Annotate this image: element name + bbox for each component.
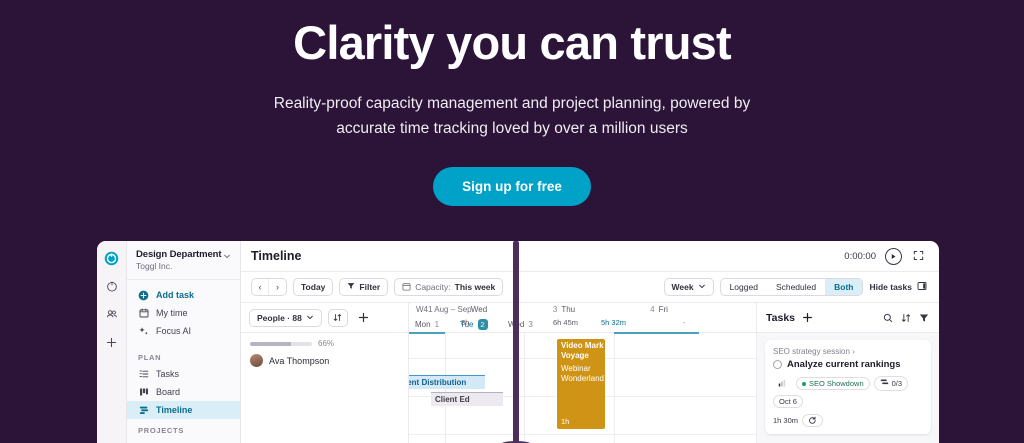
task-title: Analyze current rankings [787, 359, 901, 370]
chevron-down-icon [306, 313, 314, 323]
capacity-button[interactable]: Capacity: This week [394, 278, 503, 296]
filter-icon [347, 282, 355, 292]
main-area: Timeline 0:00:00 ‹ › Today [241, 241, 939, 443]
view-mode-segmented: Logged Scheduled Both [720, 278, 864, 296]
segment-scheduled[interactable]: Scheduled [767, 279, 825, 295]
task-date-chip[interactable]: Oct 6 [773, 395, 803, 408]
event-video-marketing-voyage[interactable]: Video Mark Voyage Webinar Wonderland 1h [557, 339, 605, 429]
day-strip: Mon 1 Tue 2 Wed 3 [409, 317, 756, 332]
add-person-button[interactable] [354, 309, 374, 327]
plus-circle-icon [138, 290, 149, 301]
hide-tasks-label: Hide tasks [869, 282, 912, 292]
person-row[interactable]: 66% Ava Thompson [241, 333, 408, 367]
calendar-cells: Content Distribution Client Ed Data • Re… [409, 333, 756, 443]
timeline-icon [138, 405, 149, 416]
avatar [250, 354, 263, 367]
list-icon [138, 369, 149, 380]
task-complete-checkbox[interactable] [773, 360, 782, 369]
capacity-percent: 66% [318, 339, 334, 348]
subtask-icon [880, 378, 889, 389]
day-header-mon[interactable]: Mon 1 [409, 317, 454, 332]
sidebar-plan-nav: Tasks Board Timeline [127, 365, 240, 419]
event-duration: 1h [561, 417, 569, 426]
sidebar-section-plan: PLAN [127, 346, 240, 365]
toolbar: ‹ › Today Filter Capacity: This week [241, 272, 939, 303]
date-nav: ‹ › [251, 278, 287, 296]
week-label: W41 Aug – Sep [409, 303, 756, 314]
segment-logged[interactable]: Logged [721, 279, 767, 295]
chevron-down-icon [698, 282, 706, 292]
project-name: SEO Showdown [809, 379, 864, 388]
subtask-count: 0/3 [892, 379, 902, 388]
sidebar-item-my-time[interactable]: My time [127, 304, 240, 322]
sparkle-icon [138, 326, 149, 337]
sidebar-quick-nav: Add task My time Focus AI [127, 280, 240, 346]
calendar-icon [138, 308, 149, 319]
sidebar-item-label: Board [156, 387, 180, 397]
calendar-grid[interactable]: W41 Aug – Sep Mon 1 Tue 2 Wed [409, 303, 756, 443]
capacity-bar [250, 342, 312, 346]
top-bar: Timeline 0:00:00 [241, 241, 939, 272]
task-restart-icon[interactable] [802, 414, 823, 427]
sidebar-item-board[interactable]: Board [127, 383, 240, 401]
day-name: Mon [415, 320, 431, 329]
capacity-prefix: Capacity: [415, 282, 450, 292]
event-client-ed[interactable]: Client Ed [431, 392, 503, 406]
day-number: 3 [528, 320, 532, 329]
segment-both[interactable]: Both [825, 279, 862, 295]
page-title: Clarity you can trust [0, 14, 1024, 72]
sidebar-item-label: Tasks [156, 369, 179, 379]
event-content-distribution[interactable]: Content Distribution [409, 375, 485, 389]
prev-button[interactable]: ‹ [252, 279, 269, 295]
add-icon[interactable] [104, 334, 120, 350]
zoom-label: Week [672, 282, 694, 292]
tasks-panel: Tasks [756, 303, 939, 443]
person-name: Ava Thompson [269, 356, 329, 366]
filter-icon[interactable] [918, 312, 930, 324]
day-header-wed[interactable]: Wed 3 [502, 317, 550, 332]
timer-display: 0:00:00 [844, 251, 876, 262]
sidebar-item-label: Focus AI [156, 326, 191, 336]
workspace-name: Design Department [136, 249, 223, 260]
workspace-org: Toggl Inc. [136, 261, 223, 271]
day-name: Tue [460, 320, 474, 329]
hero-subtitle: Reality-proof capacity management and pr… [0, 91, 1024, 141]
tasks-panel-header: Tasks [757, 303, 939, 333]
task-estimate: 1h 30m [773, 415, 798, 426]
hero-section: Clarity you can trust Reality-proof capa… [0, 0, 1024, 206]
panel-resize-handle[interactable] [513, 241, 519, 443]
sidebar-item-add-task[interactable]: Add task [127, 286, 240, 304]
toggl-logo-icon[interactable] [104, 250, 120, 266]
event-line-2: Voyage [561, 351, 601, 361]
landing-page: Clarity you can trust Reality-proof capa… [0, 0, 1024, 443]
fullscreen-icon[interactable] [913, 250, 925, 262]
people-selector-label: People · 88 [257, 313, 302, 323]
sidebar: Design Department Toggl Inc. Add task [127, 241, 241, 443]
icon-rail [97, 241, 127, 443]
timer-icon[interactable] [104, 278, 120, 294]
workspace-switcher[interactable]: Design Department Toggl Inc. [127, 249, 240, 280]
signup-button[interactable]: Sign up for free [433, 167, 591, 206]
people-icon[interactable] [104, 306, 120, 322]
sidebar-item-tasks[interactable]: Tasks [127, 365, 240, 383]
filter-button[interactable]: Filter [339, 278, 388, 296]
sidebar-section-projects: PROJECTS [127, 419, 240, 438]
panel-toggle-icon [917, 281, 927, 293]
people-selector[interactable]: People · 88 [249, 309, 322, 327]
day-header-tue[interactable]: Tue 2 [454, 317, 502, 332]
task-breadcrumb[interactable]: SEO strategy session › [773, 347, 923, 356]
play-icon[interactable] [885, 248, 902, 265]
people-header: People · 88 [241, 303, 408, 333]
sidebar-item-label: My time [156, 308, 188, 318]
calendar-header: W41 Aug – Sep Mon 1 Tue 2 Wed [409, 303, 756, 333]
day-badge: 2 [478, 319, 488, 330]
task-project-chip[interactable]: SEO Showdown [796, 377, 870, 390]
sidebar-item-focus-ai[interactable]: Focus AI [127, 322, 240, 340]
search-icon[interactable] [882, 312, 894, 324]
sidebar-item-timeline[interactable]: Timeline [127, 401, 240, 419]
capacity-value: This week [455, 282, 496, 292]
people-column: People · 88 [241, 303, 409, 443]
filter-label: Filter [359, 282, 380, 292]
next-button[interactable]: › [269, 279, 286, 295]
sidebar-item-label: Add task [156, 290, 194, 300]
zoom-select[interactable]: Week [664, 278, 714, 296]
hero-subtitle-line2: accurate time tracking loved by over a m… [0, 116, 1024, 141]
view-title: Timeline [251, 249, 844, 263]
event-line-3: Webinar [561, 364, 601, 374]
task-card[interactable]: SEO strategy session › Analyze current r… [765, 340, 931, 434]
sort-icon[interactable] [900, 312, 912, 324]
day-number: 1 [435, 320, 439, 329]
today-button[interactable]: Today [293, 278, 333, 296]
board-icon [138, 387, 149, 398]
tasks-title: Tasks [766, 312, 795, 324]
timeline-body: People · 88 [241, 303, 939, 443]
priority-icon [773, 378, 792, 389]
event-line-1: Video Mark [561, 341, 601, 351]
sort-icon[interactable] [328, 309, 348, 327]
calendar-icon [402, 282, 411, 293]
task-subtasks-chip: 0/3 [874, 376, 908, 391]
hero-subtitle-line1: Reality-proof capacity management and pr… [0, 91, 1024, 116]
plus-icon[interactable] [801, 312, 813, 324]
hide-tasks-button[interactable]: Hide tasks [869, 281, 929, 293]
event-line-4: Wonderland [561, 374, 601, 384]
project-color-dot [802, 382, 806, 386]
chevron-down-icon [223, 249, 231, 262]
sidebar-item-label: Timeline [156, 405, 192, 415]
